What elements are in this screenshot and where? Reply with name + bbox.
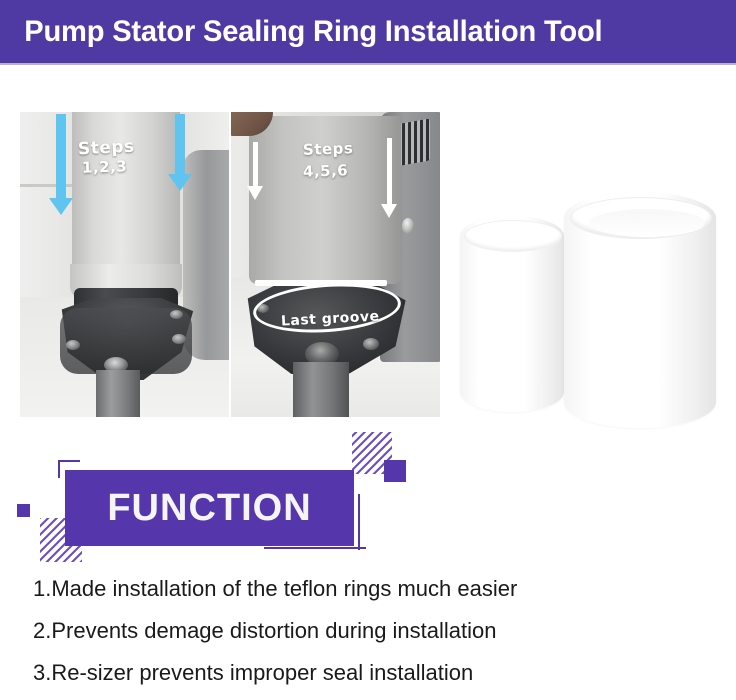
down-arrow-icon: [387, 138, 392, 206]
header-divider: [0, 63, 736, 65]
flange-bolt-hole: [172, 334, 186, 344]
list-item: 2.Prevents demage distortion during inst…: [33, 610, 723, 652]
pump-shaft: [293, 362, 349, 417]
photo1-annotation-line2: 1,2,3: [82, 159, 128, 176]
photo1-annotation-line1: Steps: [78, 139, 136, 160]
product-photo[interactable]: [452, 188, 736, 428]
down-arrow-icon: [253, 142, 258, 188]
page-title: Pump Stator Sealing Ring Installation To…: [0, 15, 602, 49]
corner-bracket-bottom-right-vertical: [358, 494, 360, 550]
corner-bracket-bottom-right-horizontal: [264, 547, 366, 549]
solid-square-decoration: [17, 504, 30, 517]
down-arrow-icon: [56, 114, 66, 200]
solid-square-decoration: [384, 460, 406, 482]
installation-sleeve-large: [564, 192, 716, 428]
list-item: 1.Made installation of the teflon rings …: [33, 568, 723, 610]
flange-bolt-hole: [66, 340, 80, 350]
pump-steps-456-photo[interactable]: Steps 4,5,6 Last groove: [229, 112, 440, 417]
photo-gallery: Steps 1,2,3 Steps 4,5,6 Last groove: [20, 112, 440, 417]
down-arrow-icon: [175, 114, 185, 176]
sleeve-rim: [570, 197, 712, 239]
sleeve-rim: [464, 220, 562, 252]
function-heading-block: FUNCTION: [0, 428, 420, 568]
sleeve-bore: [589, 209, 705, 237]
pump-steps-123-photo[interactable]: Steps 1,2,3: [20, 112, 229, 417]
photo2-annotation-line2: 4,5,6: [303, 163, 349, 180]
function-title-banner: FUNCTION: [65, 470, 354, 546]
flange-bolt-hole: [363, 338, 379, 350]
flange-bolt-hole: [170, 310, 183, 319]
housing-screw: [402, 218, 414, 234]
photo2-annotation-line1: Steps: [303, 141, 354, 158]
header-banner: Pump Stator Sealing Ring Installation To…: [0, 0, 736, 63]
function-feature-list: 1.Made installation of the teflon rings …: [33, 568, 723, 694]
function-heading-label: FUNCTION: [65, 470, 354, 546]
list-item: 3.Re-sizer prevents improper seal instal…: [33, 652, 723, 694]
pump-shaft: [96, 370, 140, 417]
installation-sleeve-small: [460, 216, 564, 412]
